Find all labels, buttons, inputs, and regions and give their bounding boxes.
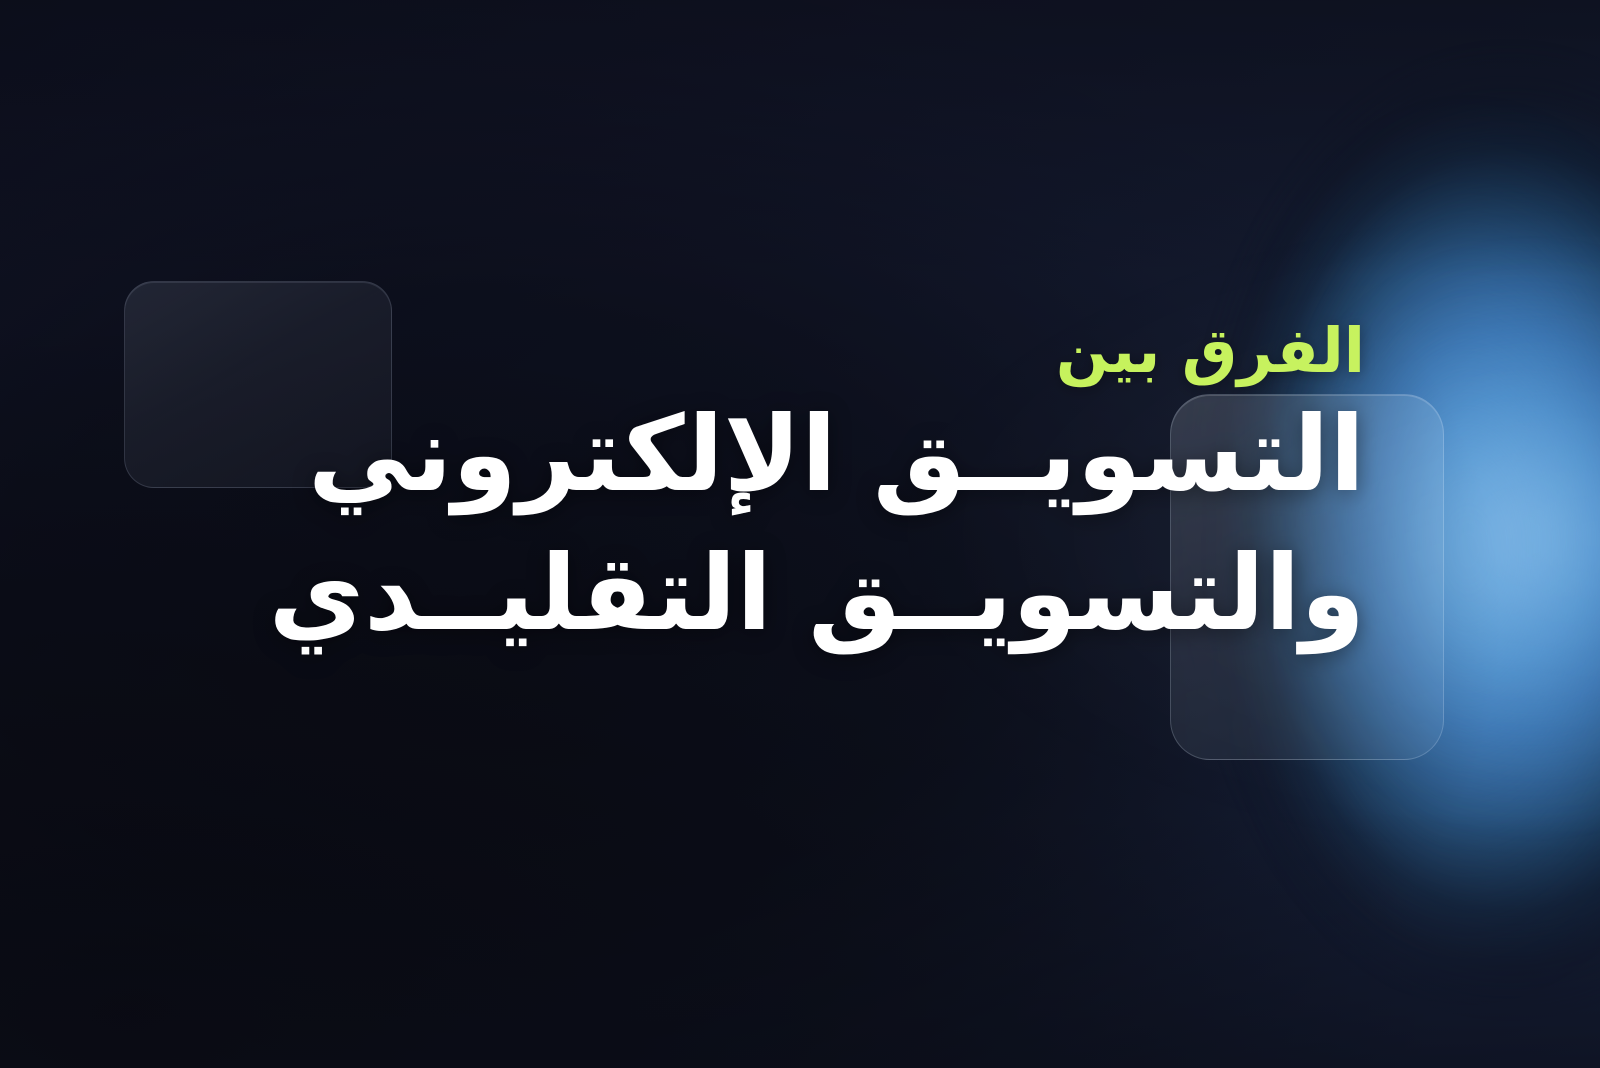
hero-headline-line-1: التسويــق الإلكتروني bbox=[245, 385, 1365, 524]
hero-canvas: الفرق بين التسويــق الإلكتروني والتسويــ… bbox=[0, 0, 1600, 1068]
hero-text-block: الفرق بين التسويــق الإلكتروني والتسويــ… bbox=[245, 318, 1365, 664]
hero-headline-line-2: والتسويــق التقليــدي bbox=[245, 524, 1365, 663]
hero-eyebrow: الفرق بين bbox=[245, 318, 1365, 383]
hero-headline: التسويــق الإلكتروني والتسويــق التقليــ… bbox=[245, 385, 1365, 664]
